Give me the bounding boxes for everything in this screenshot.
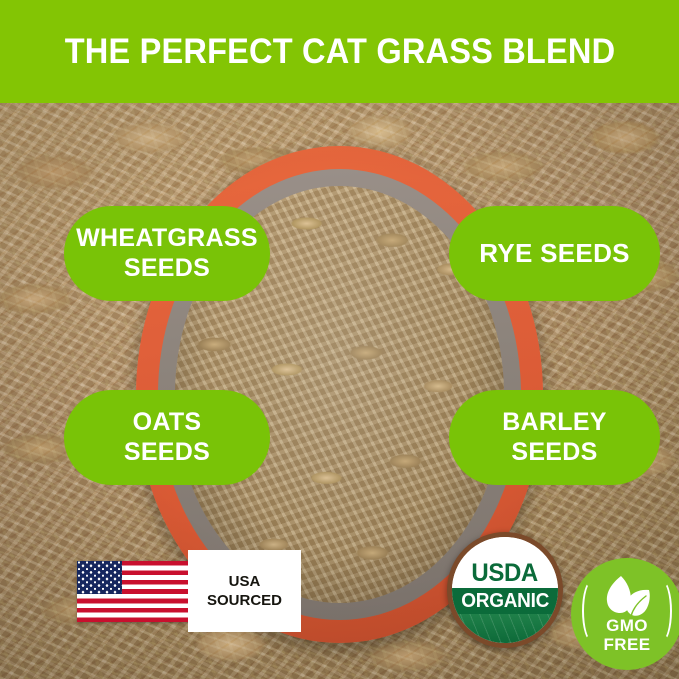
leaf-icon xyxy=(600,575,654,619)
usda-seal-band: ORGANIC xyxy=(452,588,558,615)
usda-seal-face: USDA ORGANIC xyxy=(452,537,558,643)
header-banner: THE PERFECT CAT GRASS BLEND xyxy=(0,0,679,103)
usda-seal-top: USDA xyxy=(452,537,558,588)
gmo-free-badge: GMO FREE xyxy=(571,558,679,670)
usda-label: USDA xyxy=(472,561,538,588)
label-pill-wheatgrass-line1: WHEATGRASS xyxy=(76,224,258,254)
usa-flag-icon xyxy=(77,561,189,622)
usa-sourced-badge: USA SOURCED xyxy=(188,550,301,632)
label-pill-oats-line1: OATS xyxy=(133,408,202,438)
flag-canton xyxy=(77,561,122,594)
page-title: THE PERFECT CAT GRASS BLEND xyxy=(64,34,615,69)
organic-label: ORGANIC xyxy=(461,591,549,611)
usda-organic-seal: USDA ORGANIC xyxy=(447,532,563,648)
label-pill-barley-line2: SEEDS xyxy=(511,438,597,468)
label-pill-rye-line1: RYE SEEDS xyxy=(479,238,630,269)
label-pill-barley-line1: BARLEY xyxy=(502,408,607,438)
label-pill-rye: RYE SEEDS xyxy=(449,206,660,301)
label-pill-oats-line2: SEEDS xyxy=(124,438,210,468)
flag-stars-row-b xyxy=(77,561,122,594)
label-pill-oats: OATS SEEDS xyxy=(64,390,270,485)
label-pill-wheatgrass-line2: SEEDS xyxy=(124,254,210,284)
label-pill-barley: BARLEY SEEDS xyxy=(449,390,660,485)
usa-sourced-line1: USA xyxy=(229,572,261,592)
usda-seal-field xyxy=(452,614,558,643)
usa-sourced-line2: SOURCED xyxy=(207,591,282,611)
label-pill-wheatgrass: WHEATGRASS SEEDS xyxy=(64,206,270,301)
gmo-free-text: GMO FREE xyxy=(571,616,679,654)
gmo-free-line1: GMO xyxy=(571,616,679,635)
product-infographic: THE PERFECT CAT GRASS BLEND WHEATGRASS S… xyxy=(0,0,679,679)
gmo-free-line2: FREE xyxy=(571,635,679,654)
